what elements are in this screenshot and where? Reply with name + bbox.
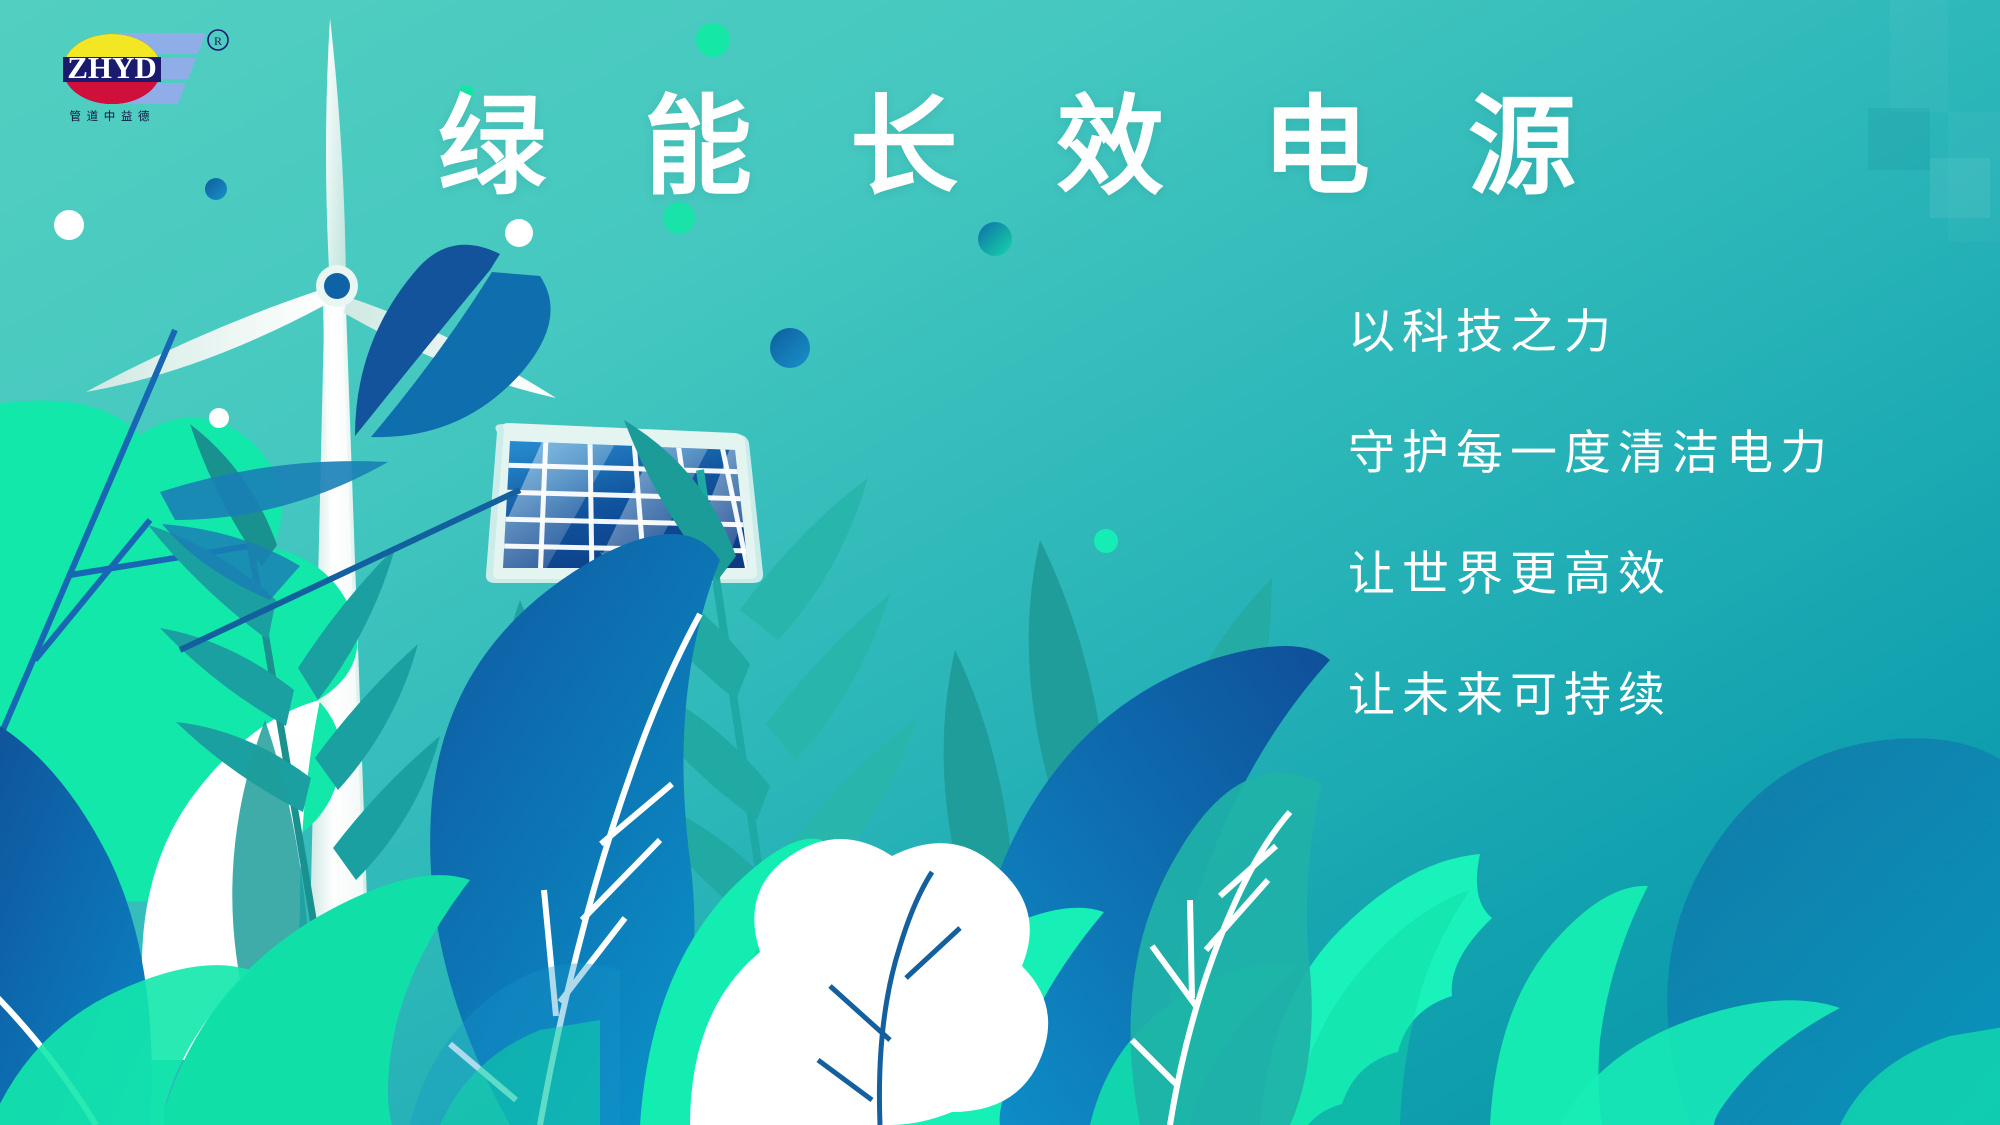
dot-blue-gradient-2 <box>205 178 227 200</box>
dot-teal-gradient-1 <box>978 222 1012 256</box>
slogan-line-3: 让世界更高效 <box>1348 550 1968 597</box>
svg-text:R: R <box>214 34 222 48</box>
dot-mint-top <box>696 23 730 57</box>
dot-white-small-left <box>209 408 229 428</box>
slogan-line-1: 以科技之力 <box>1348 308 1968 355</box>
dot-white-left <box>54 210 84 240</box>
slogan-line-4: 让未来可持续 <box>1348 671 1968 718</box>
slogan-block: 以科技之力 守护每一度清洁电力 让世界更高效 让未来可持续 <box>1348 308 1968 718</box>
page-title: 绿 能 长 效 电 源 <box>438 88 1610 207</box>
company-logo[interactable]: ZHYD R 管 道 中 益 德 <box>56 24 236 124</box>
logo-tagline: 管 道 中 益 德 <box>69 109 150 123</box>
dot-blue-gradient-1 <box>770 328 810 368</box>
slogan-line-2: 守护每一度清洁电力 <box>1348 429 1968 476</box>
logo-wordmark: ZHYD <box>67 50 157 85</box>
logo-oval: ZHYD <box>63 34 161 104</box>
registered-mark-icon: R <box>208 30 228 50</box>
dot-mint-right <box>1094 529 1118 553</box>
poster-canvas: ZHYD R 管 道 中 益 德 绿 能 长 效 电 源 以科技之力 守护每一度… <box>0 0 2000 1125</box>
dot-white-under-title <box>505 219 533 247</box>
